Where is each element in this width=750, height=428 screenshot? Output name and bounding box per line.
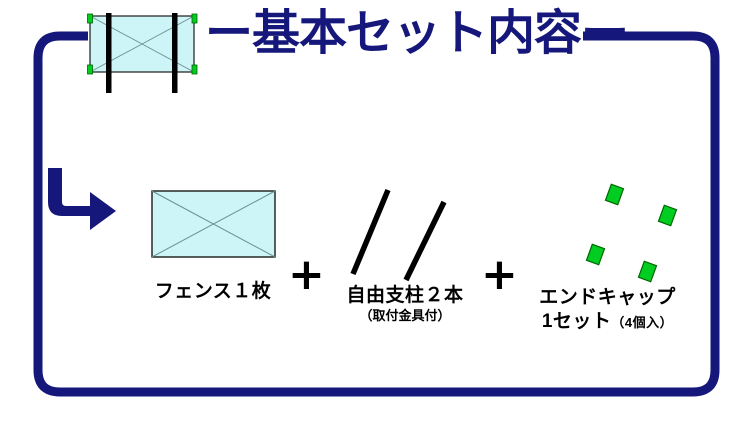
page-title: ー基本セット内容ー <box>205 8 628 61</box>
end-cap-bottom-left <box>88 65 93 74</box>
free-post-pair-icon <box>340 186 470 284</box>
item-caps-inline-sublabel: （4個入） <box>611 315 673 330</box>
end-cap-2 <box>658 205 676 225</box>
end-cap-1 <box>605 184 623 204</box>
item-caps-label-2: 1セット（4個入） <box>500 310 715 334</box>
diagram-canvas: ー基本セット内容ー <box>0 0 750 428</box>
post-left <box>106 13 112 93</box>
item-caps: エンドキャップ 1セット（4個入） <box>500 178 715 334</box>
end-cap-3 <box>586 244 604 264</box>
fence-panel-icon <box>151 190 276 258</box>
elbow-arrow-right <box>44 168 118 230</box>
end-cap-set-icon <box>533 178 683 286</box>
post-line-2 <box>406 202 444 280</box>
item-fence-label: フェンス１枚 <box>118 280 308 304</box>
end-cap-bottom-right <box>192 65 197 74</box>
end-cap-top-left <box>88 14 93 23</box>
item-caps-count: 1セット <box>542 311 612 332</box>
end-cap-4 <box>638 261 656 281</box>
plus-sign-2: + <box>481 253 518 297</box>
item-posts-label: 自由支柱２本 <box>310 284 500 308</box>
plus-sign-1: + <box>288 253 325 297</box>
item-caps-label: エンドキャップ <box>500 286 715 310</box>
end-cap-top-right <box>192 14 197 23</box>
post-line-1 <box>353 190 388 274</box>
item-posts-sublabel: （取付金具付） <box>310 308 500 325</box>
assembled-fence-diagram <box>84 10 209 100</box>
post-right <box>172 13 178 93</box>
item-posts: 自由支柱２本 （取付金具付） <box>310 186 500 325</box>
item-fence: フェンス１枚 <box>118 190 308 304</box>
